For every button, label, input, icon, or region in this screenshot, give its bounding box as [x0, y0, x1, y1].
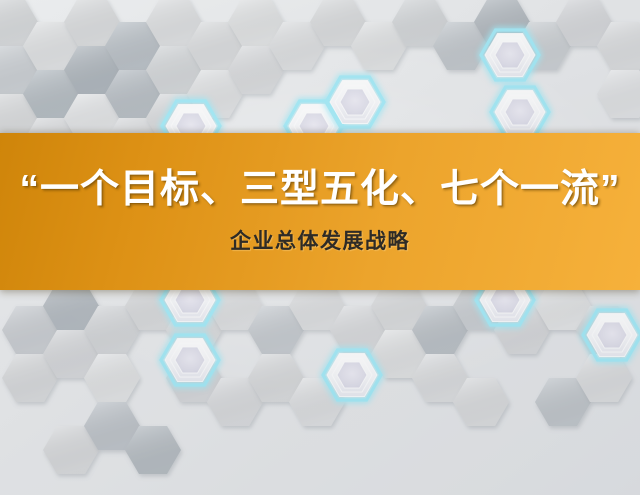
glowing-hexagon [481, 30, 539, 80]
slide-subtitle: 企业总体发展战略 [230, 225, 410, 255]
slide-canvas: “一个目标、三型五化、七个一流” 企业总体发展战略 [0, 0, 640, 495]
glowing-hexagon [326, 77, 384, 127]
title-band: “一个目标、三型五化、七个一流” 企业总体发展战略 [0, 133, 640, 290]
slide-title: “一个目标、三型五化、七个一流” [19, 168, 620, 212]
glowing-hexagon [323, 350, 381, 400]
glowing-hexagon [491, 87, 549, 137]
glowing-hexagon [161, 335, 219, 385]
glowing-hexagon [583, 310, 640, 360]
